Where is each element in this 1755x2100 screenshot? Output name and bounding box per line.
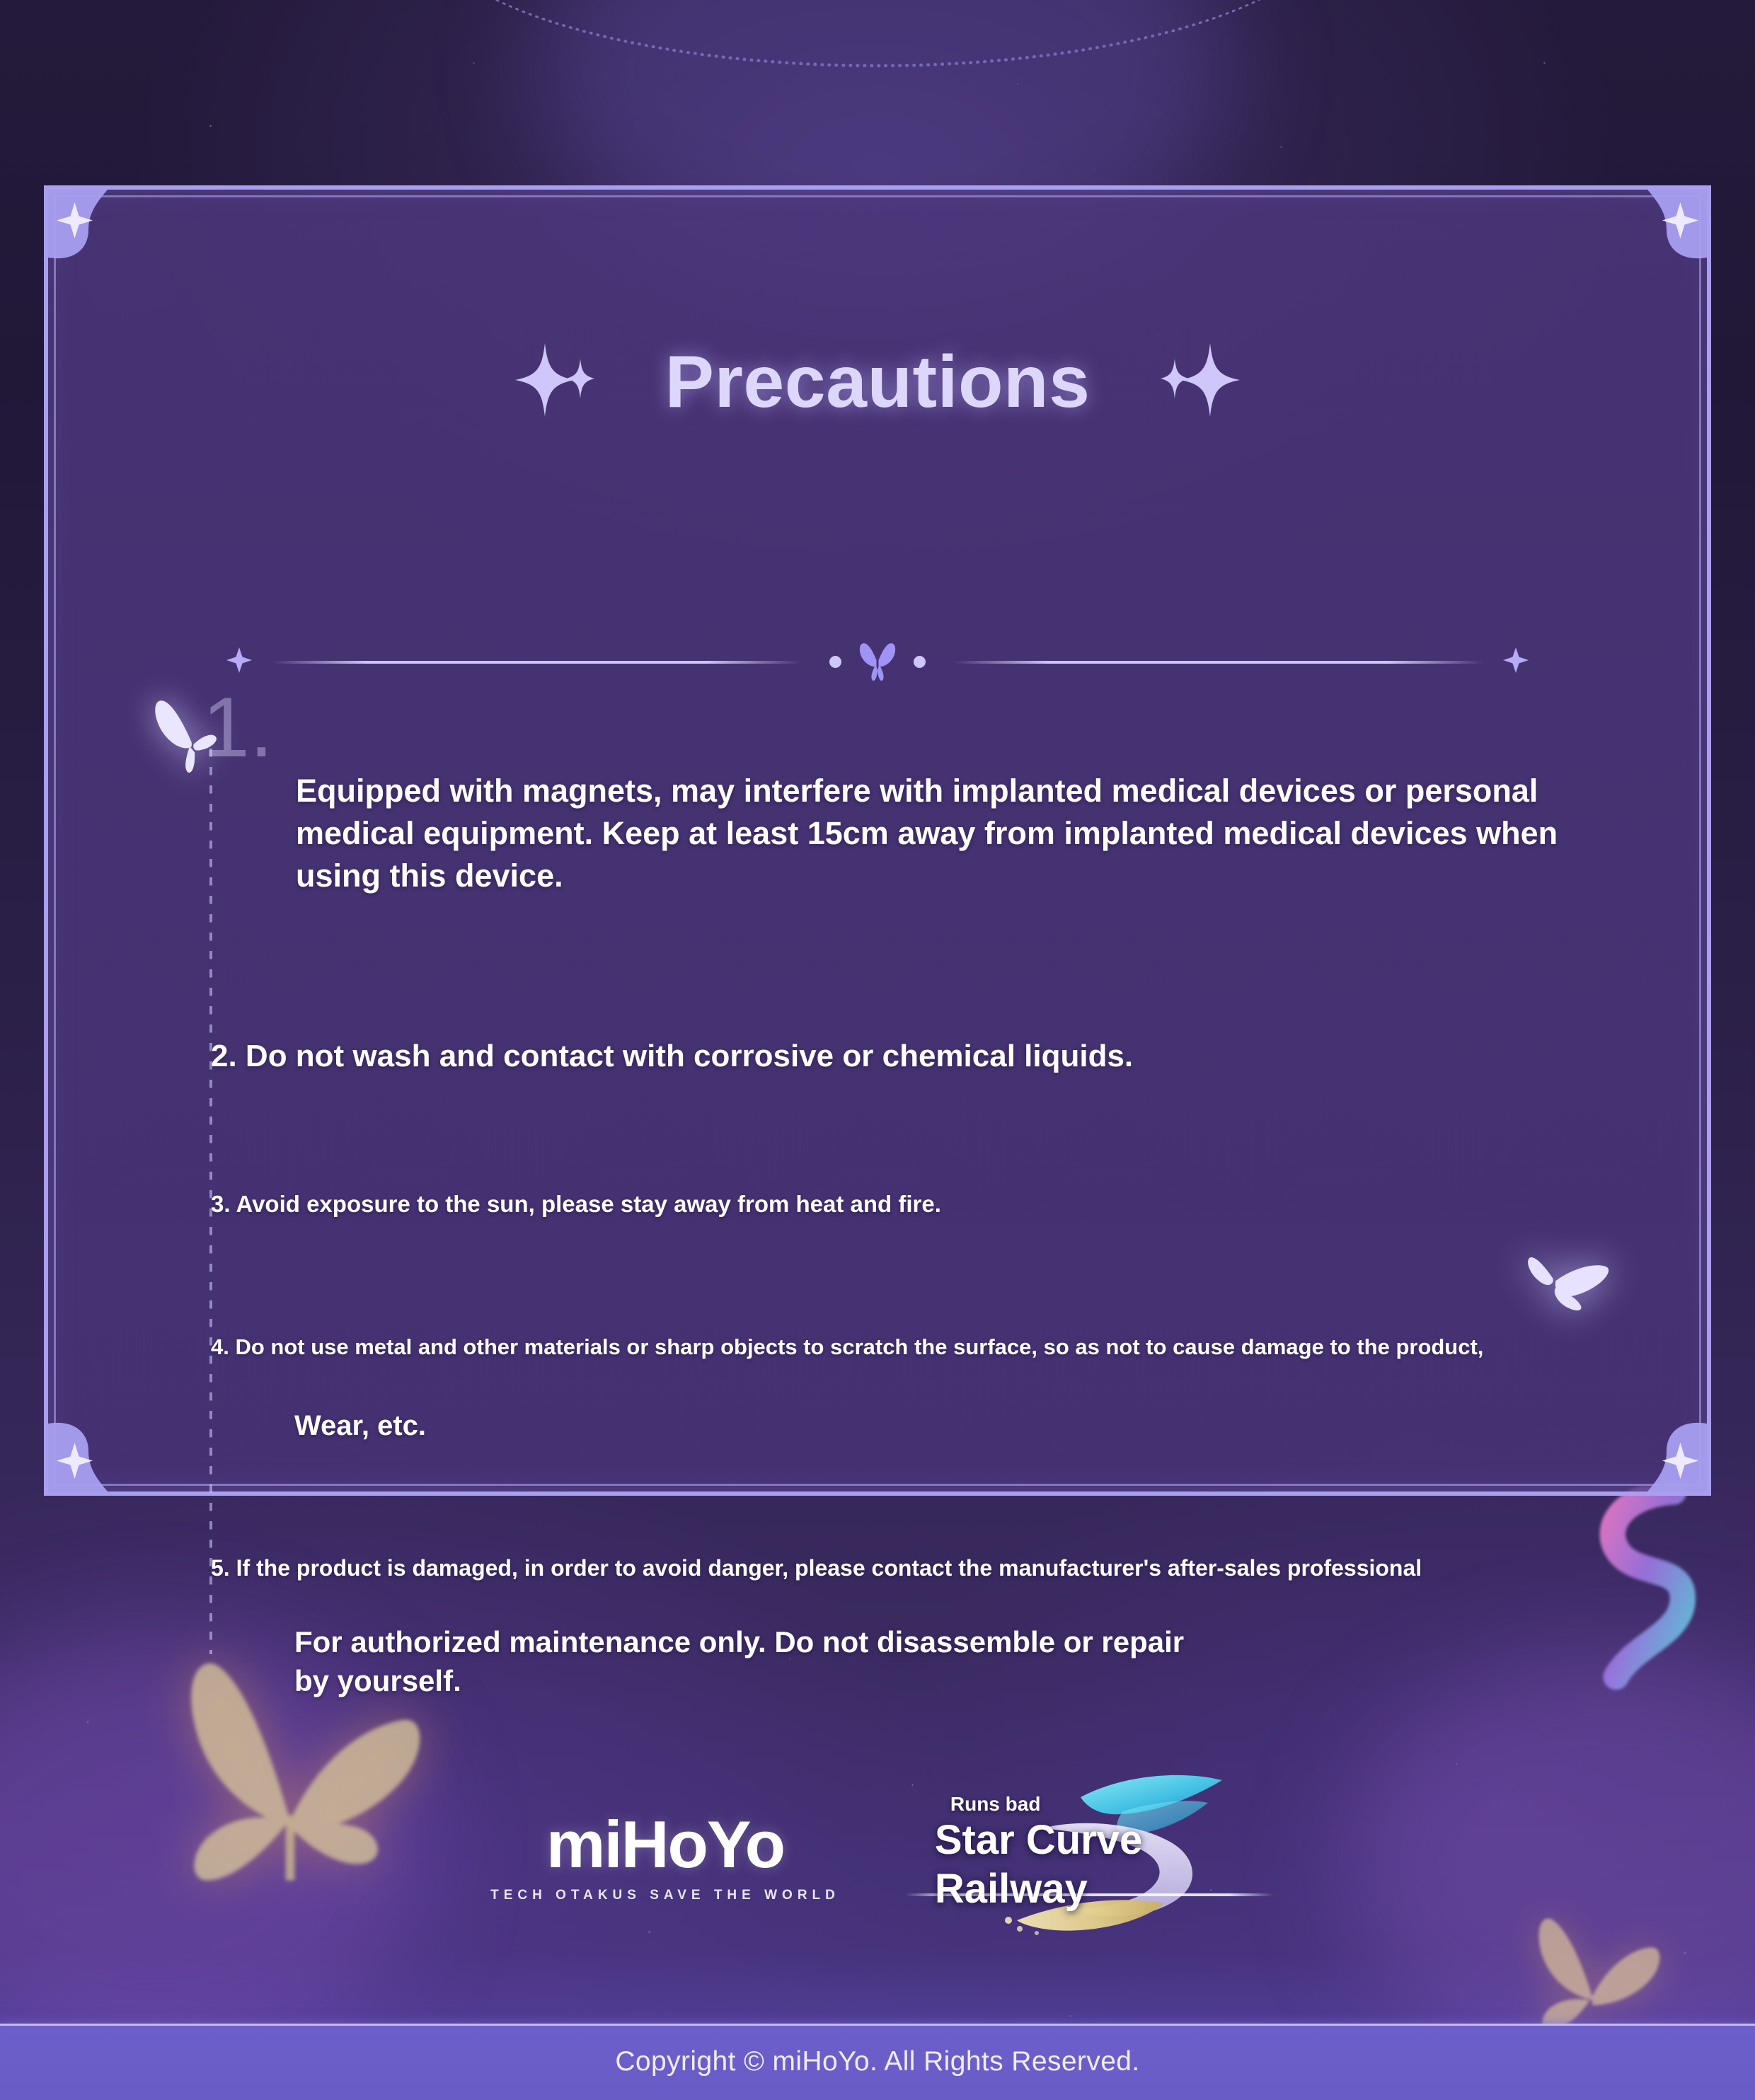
mihoyo-tagline: TECH OTAKUS SAVE THE WORLD xyxy=(490,1888,840,1903)
precaution-item-4-continuation: Wear, etc. xyxy=(294,1410,426,1442)
precautions-card: Precautions xyxy=(44,185,1711,1496)
copyright-text: Copyright © miHoYo. All Rights Reserved. xyxy=(615,2046,1139,2077)
footer-logos: miHoYo TECH OTAKUS SAVE THE WORLD xyxy=(0,1769,1755,1946)
precaution-item-2: 2. Do not wash and contact with corrosiv… xyxy=(211,1039,1133,1074)
game-logo-title-line1: Star Curve xyxy=(935,1818,1142,1863)
title-sparkle-left-icon xyxy=(512,337,597,426)
precaution-item-3-text: 3. Avoid exposure to the sun, please sta… xyxy=(211,1191,941,1218)
ribbon-swirl-decoration xyxy=(1550,1486,1713,1698)
precaution-item-2-text: 2. Do not wash and contact with corrosiv… xyxy=(211,1039,1133,1074)
game-logo-subtitle: Runs bad xyxy=(950,1794,1142,1814)
divider-butterfly-icon xyxy=(851,634,904,690)
precaution-item-1: Equipped with magnets, may interfere wit… xyxy=(296,770,1563,897)
precaution-item-4: 4. Do not use metal and other materials … xyxy=(211,1334,1626,1360)
precaution-item-5-continuation: For authorized maintenance only. Do not … xyxy=(294,1622,1214,1701)
game-logo-title-line2: Railway xyxy=(935,1867,1142,1912)
game-logo: Runs bad Star Curve Railway xyxy=(918,1776,1265,1939)
divider-diamond-right-icon xyxy=(1502,646,1530,678)
precaution-item-5-text: 5. If the product is damaged, in order t… xyxy=(211,1555,1626,1581)
section-divider xyxy=(225,634,1530,690)
precautions-page: Precautions xyxy=(0,0,1755,2100)
game-logo-text: Runs bad Star Curve Railway xyxy=(935,1794,1142,1911)
page-title: Precautions xyxy=(665,345,1091,419)
mihoyo-wordmark: miHoYo xyxy=(490,1811,840,1878)
divider-dot-right-icon xyxy=(914,656,926,668)
precaution-item-5: 5. If the product is damaged, in order t… xyxy=(211,1555,1626,1581)
dotted-arc-decoration xyxy=(418,0,1337,67)
mihoyo-logo: miHoYo TECH OTAKUS SAVE THE WORLD xyxy=(490,1811,840,1903)
divider-rule-right xyxy=(954,661,1483,664)
precaution-item-4-text: 4. Do not use metal and other materials … xyxy=(211,1334,1626,1360)
divider-rule-left xyxy=(272,661,801,664)
precaution-item-3: 3. Avoid exposure to the sun, please sta… xyxy=(211,1191,941,1218)
divider-diamond-left-icon xyxy=(225,646,253,678)
precaution-item-5-continuation-text: For authorized maintenance only. Do not … xyxy=(294,1622,1214,1701)
precaution-item-4-continuation-text: Wear, etc. xyxy=(294,1410,426,1442)
precaution-item-1-text: Equipped with magnets, may interfere wit… xyxy=(296,770,1563,897)
title-sparkle-right-icon xyxy=(1158,337,1243,426)
copyright-bar: Copyright © miHoYo. All Rights Reserved. xyxy=(0,2024,1755,2100)
page-title-row: Precautions xyxy=(48,296,1707,468)
divider-dot-left-icon xyxy=(829,656,841,668)
